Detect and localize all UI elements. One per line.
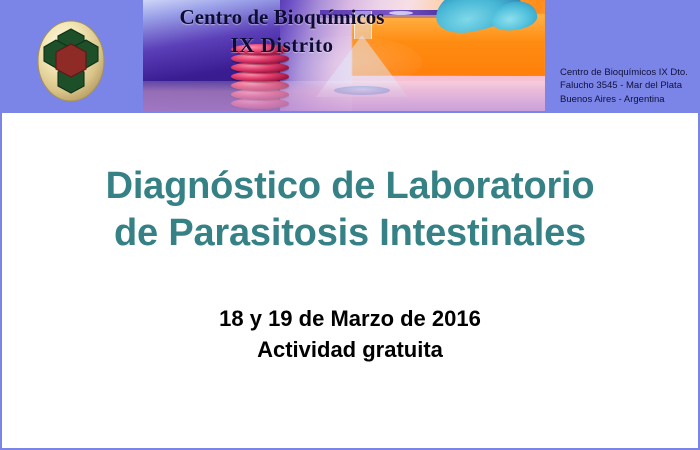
banner-title-line-2: IX Distrito — [152, 32, 412, 60]
address-line-3: Buenos Aires - Argentina — [560, 93, 688, 106]
page-title-line-2: de Parasitosis Intestinales — [2, 210, 698, 257]
address-line-1: Centro de Bioquímicos IX Dto. — [560, 66, 688, 79]
banner-bench-reflection — [143, 81, 545, 111]
event-cost: Actividad gratuita — [2, 334, 698, 365]
header-band: Centro de Bioquímicos IX Distrito Centro… — [0, 0, 700, 113]
main-content: Diagnóstico de Laboratorio de Parasitosi… — [2, 113, 698, 448]
event-details: 18 y 19 de Marzo de 2016 Actividad gratu… — [2, 303, 698, 365]
centro-de-bioquimicos-emblem-icon — [36, 20, 106, 102]
page-title-line-1: Diagnóstico de Laboratorio — [2, 163, 698, 210]
page-title: Diagnóstico de Laboratorio de Parasitosi… — [2, 163, 698, 257]
banner-organization-title: Centro de Bioquímicos IX Distrito — [152, 4, 412, 59]
organization-address: Centro de Bioquímicos IX Dto. Falucho 35… — [560, 66, 688, 106]
poster-page: Centro de Bioquímicos IX Distrito Centro… — [0, 0, 700, 450]
banner-title-line-1: Centro de Bioquímicos — [152, 4, 412, 32]
address-line-2: Falucho 3545 - Mar del Plata — [560, 79, 688, 92]
event-date: 18 y 19 de Marzo de 2016 — [2, 303, 698, 334]
